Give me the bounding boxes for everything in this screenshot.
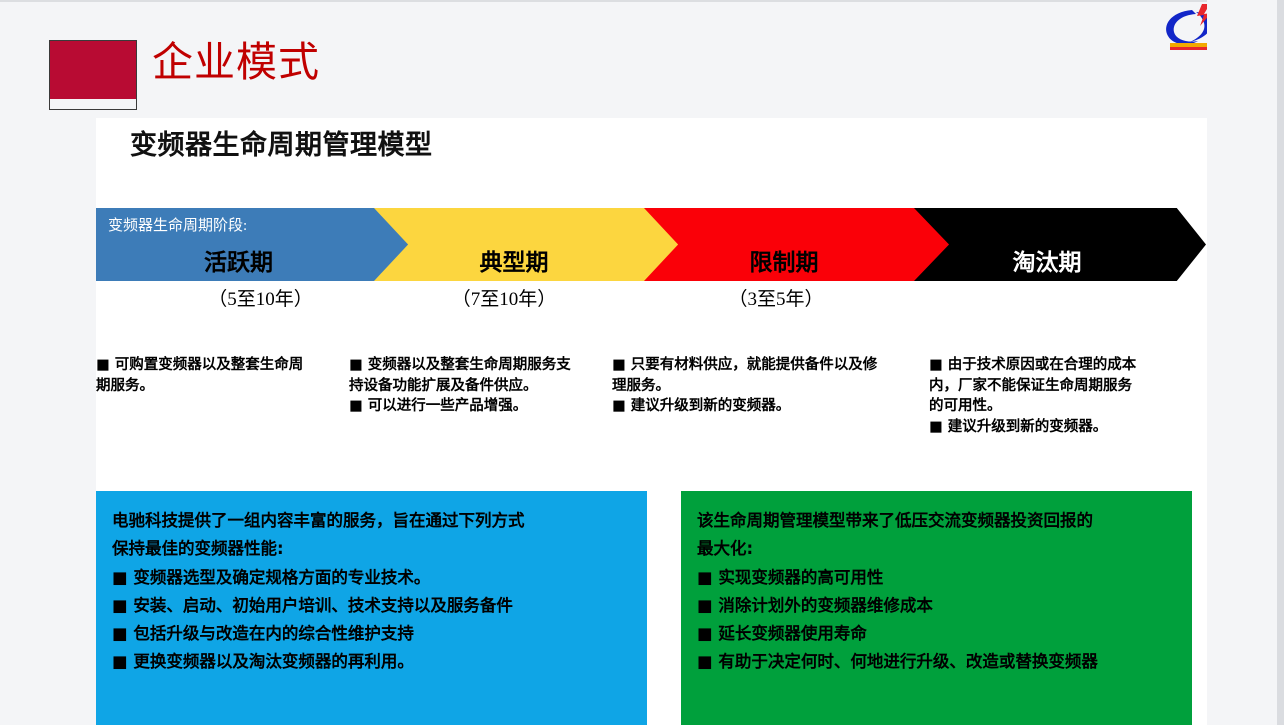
summary-lede-line: 该生命周期管理模型带来了低压交流变频器投资回报的 xyxy=(697,507,1178,535)
red-accent-fill xyxy=(50,41,136,99)
phase-label-typical: 典型期 xyxy=(374,243,654,277)
bullet-line: ■ 只要有材料供应，就能提供备件以及修 xyxy=(612,356,912,376)
page-title: 企业模式 xyxy=(152,42,320,83)
phase-bullet-columns: ■ 可购置变频器以及整套生命周 期服务。 ■ 变频器以及整套生命周期服务支 持设… xyxy=(96,356,1207,476)
bullet-line: 理服务。 xyxy=(612,377,912,397)
list-item: ■ 更换变频器以及淘汰变频器的再利用。 xyxy=(112,648,633,676)
list-item: ■ 变频器选型及确定规格方面的专业技术。 xyxy=(112,564,633,592)
bullet-column-active: ■ 可购置变频器以及整套生命周 期服务。 xyxy=(96,356,344,397)
list-item: ■ 有助于决定何时、何地进行升级、改造或替换变频器 xyxy=(697,648,1178,676)
phase-label-obsolete: 淘汰期 xyxy=(914,243,1180,277)
summary-list-services: ■ 变频器选型及确定规格方面的专业技术。 ■ 安装、启动、初始用户培训、技术支持… xyxy=(112,564,633,675)
phase-label-active: 活跃期 xyxy=(96,243,381,277)
bullet-line: 的可用性。 xyxy=(929,397,1177,417)
bullet-line: 持设备功能扩展及备件供应。 xyxy=(349,377,607,397)
vertical-scrollbar[interactable] xyxy=(1277,0,1284,725)
phase-years-limited: （3至5年） xyxy=(636,284,916,311)
bullet-line: ■ 由于技术原因或在合理的成本 xyxy=(929,356,1177,376)
bullet-line: ■ 建议升级到新的变频器。 xyxy=(929,418,1177,438)
phase-years-active: （5至10年） xyxy=(118,284,403,311)
summary-lede-line: 保持最佳的变频器性能: xyxy=(112,535,633,563)
phase-chevron-active[interactable]: 变频器生命周期阶段: 活跃期 xyxy=(96,208,414,281)
bullet-line: 期服务。 xyxy=(96,377,344,397)
lifecycle-phase-bar: 变频器生命周期阶段: 活跃期 典型期 限制期 淘汰期 xyxy=(96,208,1207,281)
bullet-column-typical: ■ 变频器以及整套生命周期服务支 持设备功能扩展及备件供应。 ■ 可以进行一些产… xyxy=(349,356,607,418)
list-item: ■ 包括升级与改造在内的综合性维护支持 xyxy=(112,620,633,648)
phase-chevron-limited[interactable]: 限制期 xyxy=(644,208,954,281)
bullet-line: ■ 可以进行一些产品增强。 xyxy=(349,397,607,417)
model-title: 变频器生命周期管理模型 xyxy=(130,123,433,162)
phase-chevron-obsolete[interactable]: 淘汰期 xyxy=(914,208,1206,281)
summary-lede-line: 电驰科技提供了一组内容丰富的服务，旨在通过下列方式 xyxy=(112,507,633,535)
bullet-column-limited: ■ 只要有材料供应，就能提供备件以及修 理服务。 ■ 建议升级到新的变频器。 xyxy=(612,356,912,418)
content-card: 变频器生命周期管理模型 变频器生命周期阶段: 活跃期 典型期 限制期 淘汰期 xyxy=(96,118,1207,725)
list-item: ■ 安装、启动、初始用户培训、技术支持以及服务备件 xyxy=(112,592,633,620)
red-accent-mark xyxy=(49,40,137,110)
list-item: ■ 消除计划外的变频器维修成本 xyxy=(697,592,1178,620)
summary-lede-line: 最大化: xyxy=(697,535,1178,563)
bullet-line: ■ 建议升级到新的变频器。 xyxy=(612,397,912,417)
phase-label-limited: 限制期 xyxy=(644,243,924,277)
bullet-line: 内，厂家不能保证生命周期服务 xyxy=(929,377,1177,397)
bullet-line: ■ 变频器以及整套生命周期服务支 xyxy=(349,356,607,376)
slide-header: 企业模式 xyxy=(0,2,1284,114)
phase-chevron-typical[interactable]: 典型期 xyxy=(374,208,684,281)
bullet-column-obsolete: ■ 由于技术原因或在合理的成本 内，厂家不能保证生命周期服务 的可用性。 ■ 建… xyxy=(929,356,1177,439)
right-gutter xyxy=(1207,0,1277,725)
bullet-line: ■ 可购置变频器以及整套生命周 xyxy=(96,356,344,376)
slide-page: 企业模式 电驰科技 ELECTRICAL DIN TECHNOLOGY TM 变… xyxy=(0,0,1284,725)
phase-bar-caption: 变频器生命周期阶段: xyxy=(108,214,247,235)
summary-box-benefits: 该生命周期管理模型带来了低压交流变频器投资回报的 最大化: ■ 实现变频器的高可… xyxy=(681,491,1192,725)
summary-list-benefits: ■ 实现变频器的高可用性 ■ 消除计划外的变频器维修成本 ■ 延长变频器使用寿命… xyxy=(697,564,1178,675)
list-item: ■ 实现变频器的高可用性 xyxy=(697,564,1178,592)
summary-box-services: 电驰科技提供了一组内容丰富的服务，旨在通过下列方式 保持最佳的变频器性能: ■ … xyxy=(96,491,647,725)
phase-years-typical: （7至10年） xyxy=(364,284,644,311)
list-item: ■ 延长变频器使用寿命 xyxy=(697,620,1178,648)
